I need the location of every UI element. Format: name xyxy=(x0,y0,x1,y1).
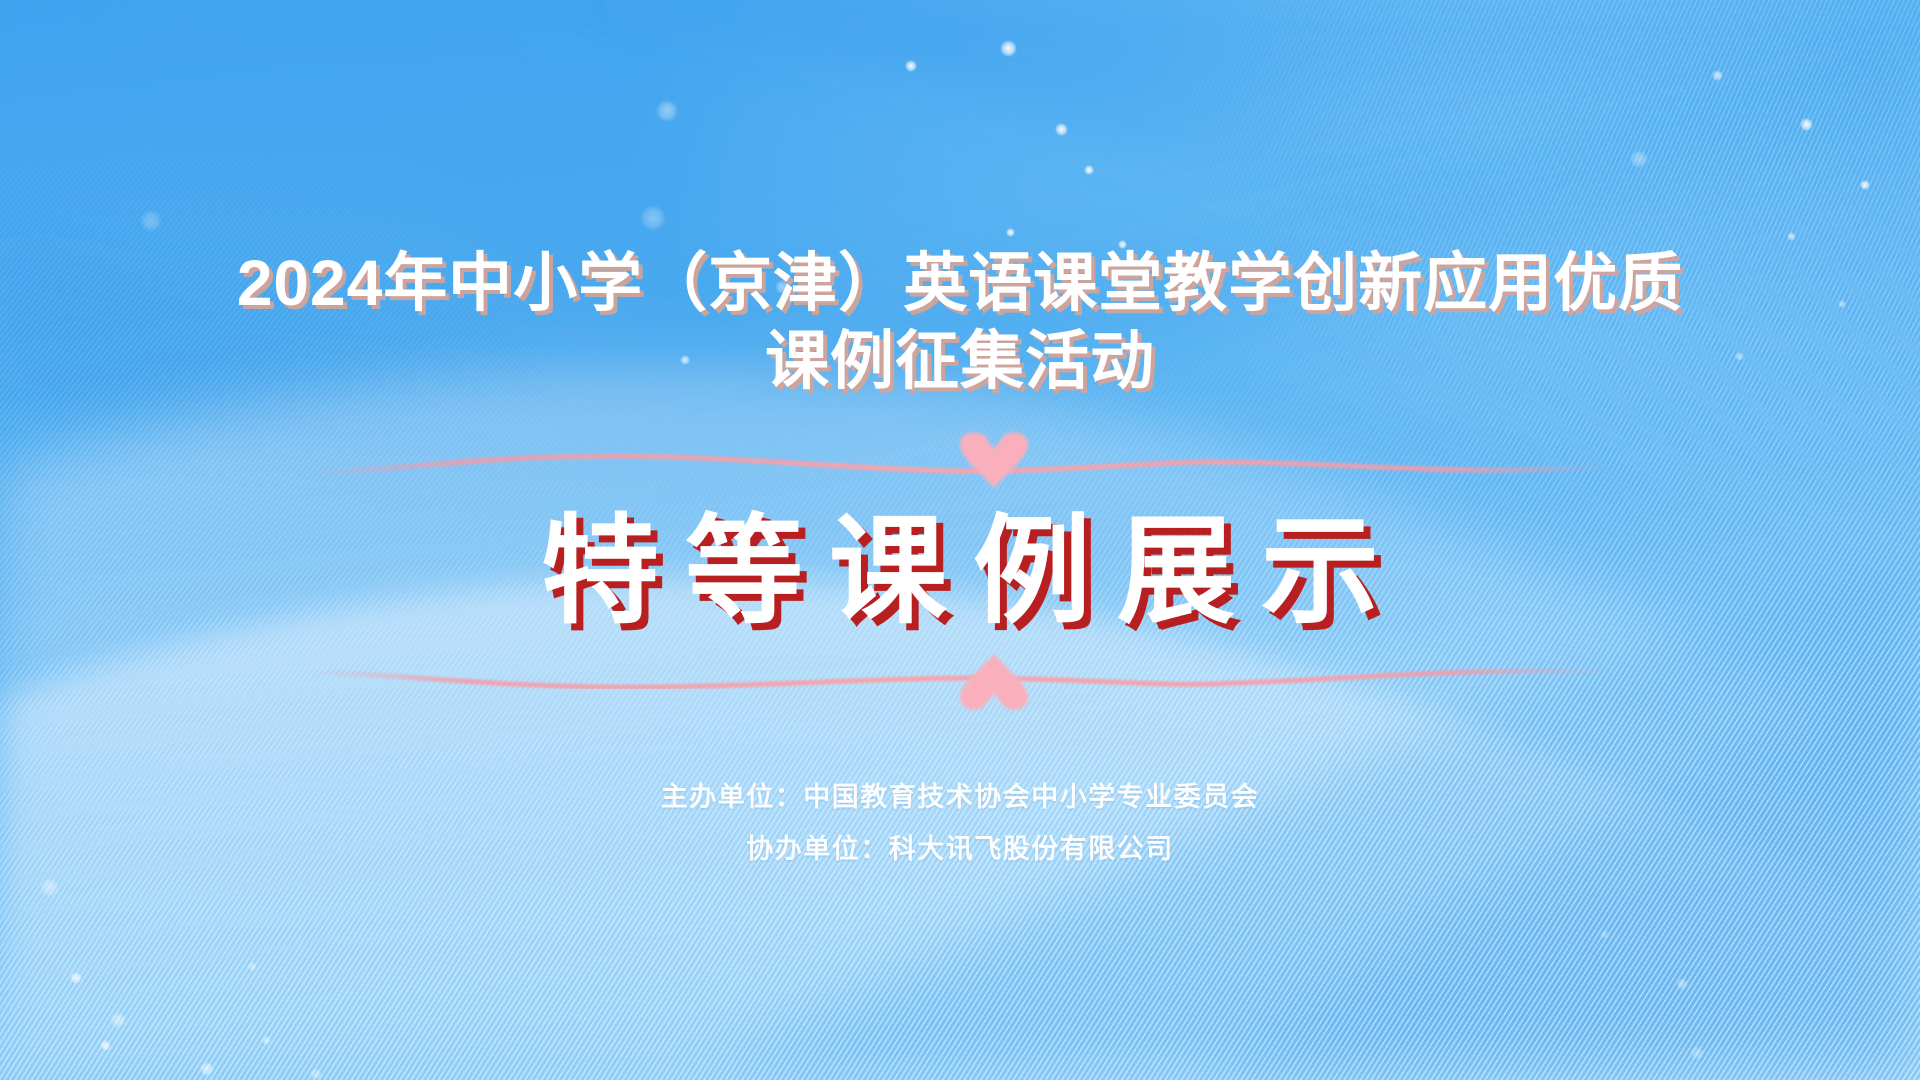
event-title: 2024年中小学（京津）英语课堂教学创新应用优质 课例征集活动 xyxy=(140,244,1780,400)
presentation-slide: 2024年中小学（京津）英语课堂教学创新应用优质 课例征集活动 xyxy=(0,0,1920,1080)
divider-bottom-graphic xyxy=(310,638,1610,716)
divider-top-graphic xyxy=(310,426,1610,504)
event-title-line-2: 课例征集活动 xyxy=(140,322,1780,400)
divider-top xyxy=(310,426,1610,504)
coorganizer-line: 协办单位：科大讯飞股份有限公司 xyxy=(661,824,1260,876)
organizer-line: 主办单位：中国教育技术协会中小学专业委员会 xyxy=(661,772,1260,824)
divider-bottom xyxy=(310,638,1610,716)
heart-icon xyxy=(960,432,1028,488)
heart-icon xyxy=(960,654,1028,710)
footer-credits: 主办单位：中国教育技术协会中小学专业委员会 协办单位：科大讯飞股份有限公司 xyxy=(661,772,1260,876)
slide-content: 2024年中小学（京津）英语课堂教学创新应用优质 课例征集活动 xyxy=(0,0,1920,1080)
headline-text: 特等课例展示 xyxy=(515,508,1405,638)
event-title-line-1: 2024年中小学（京津）英语课堂教学创新应用优质 xyxy=(140,244,1780,322)
